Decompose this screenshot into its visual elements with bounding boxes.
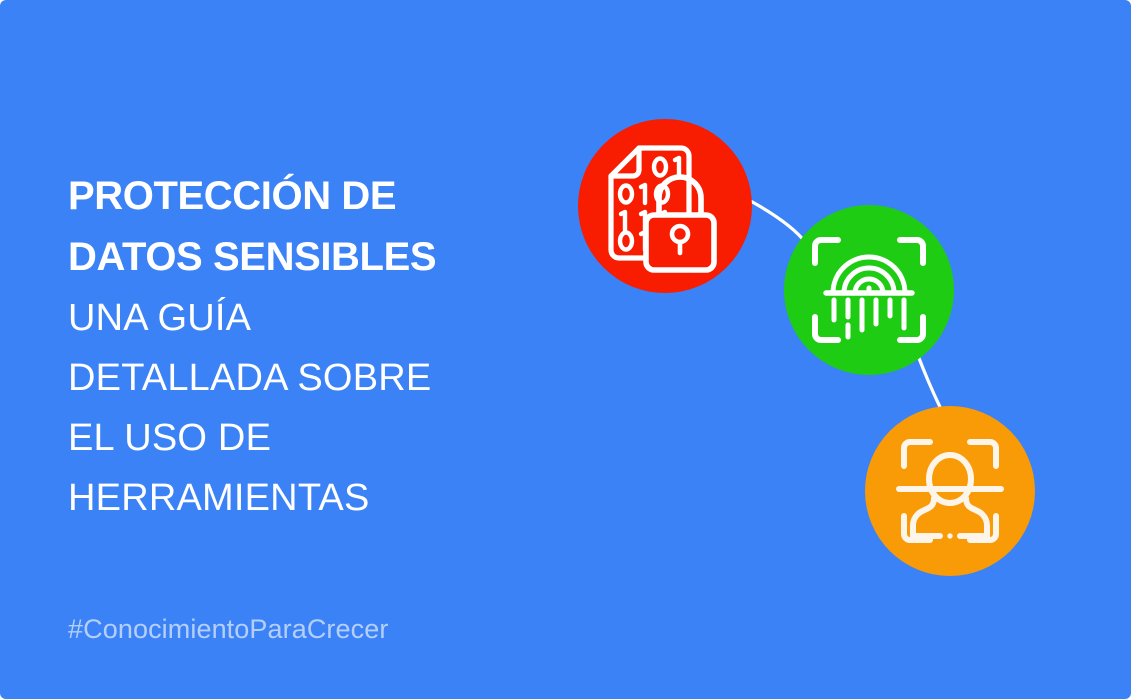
connector-red-to-green [745,198,806,243]
hashtag-label: #ConocimientoParaCrecer [68,612,388,646]
headline-block: PROTECCIÓN DE DATOS SENSIBLES UNA GUÍA D… [68,166,498,528]
connector-green-to-orange [917,353,940,407]
node-face-recognition[interactable] [865,406,1035,576]
node-circle-red[interactable] [578,119,752,293]
title-line-2: DATOS SENSIBLES [68,227,498,288]
face-recognition-icon [899,442,1001,540]
node-circle-orange[interactable] [865,406,1035,576]
connector-group [745,198,940,407]
subtitle-line-1: UNA GUÍA [68,288,498,348]
fingerprint-scan-icon [815,240,923,340]
title-line-1: PROTECCIÓN DE [68,166,498,227]
encrypted-document-lock-icon [611,148,714,270]
subtitle-line-2: DETALLADA SOBRE [68,348,498,408]
node-encrypted-file[interactable] [578,119,752,293]
subtitle-line-4: HERRAMIENTAS [68,468,498,528]
node-fingerprint-scan[interactable] [784,205,954,375]
slide-canvas: PROTECCIÓN DE DATOS SENSIBLES UNA GUÍA D… [0,0,1131,699]
subtitle-line-3: EL USO DE [68,408,498,468]
node-circle-green[interactable] [784,205,954,375]
